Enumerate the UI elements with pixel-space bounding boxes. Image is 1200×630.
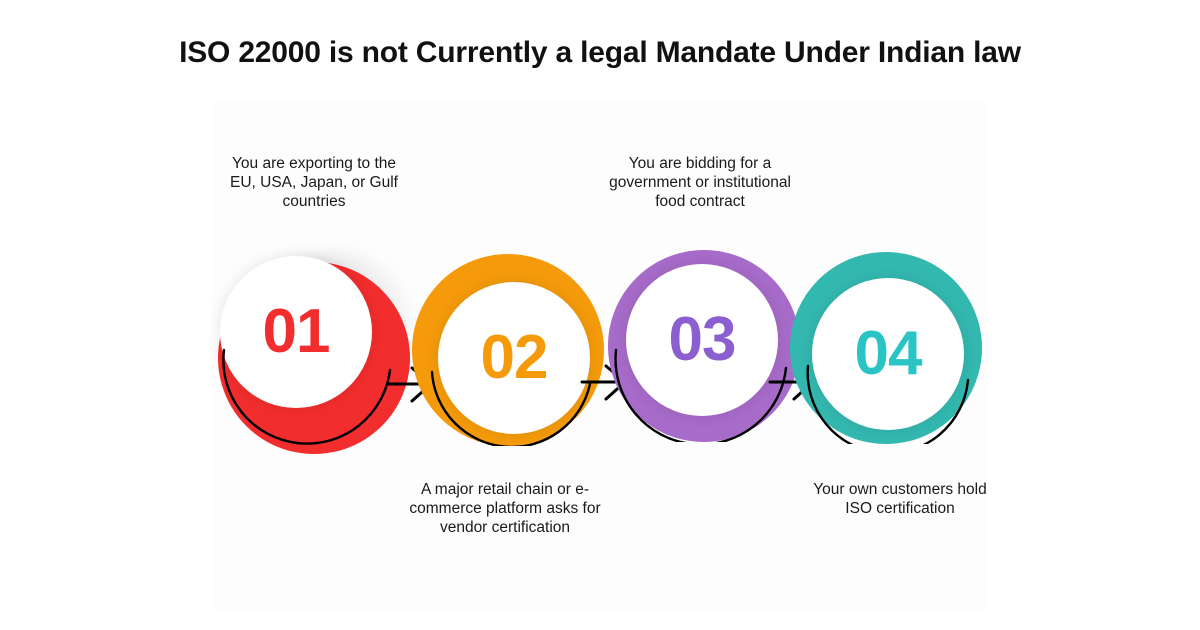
step-number-04: 04 [855, 323, 922, 385]
process-flow-diagram: You are exporting to the EU, USA, Japan,… [0, 0, 1200, 630]
step-number-01: 01 [263, 301, 330, 363]
step-caption-04: Your own customers hold ISO certificatio… [810, 481, 990, 519]
step-number-02: 02 [481, 327, 548, 389]
step-inner-circle-01: 01 [220, 256, 372, 408]
step-caption-01: You are exporting to the EU, USA, Japan,… [228, 155, 400, 212]
step-inner-circle-03: 03 [626, 264, 778, 416]
step-caption-02: A major retail chain or e-commerce platf… [400, 481, 610, 538]
step-caption-03: You are bidding for a government or inst… [600, 155, 800, 212]
step-number-03: 03 [669, 309, 736, 371]
step-inner-circle-04: 04 [812, 278, 964, 430]
step-inner-circle-02: 02 [438, 282, 590, 434]
